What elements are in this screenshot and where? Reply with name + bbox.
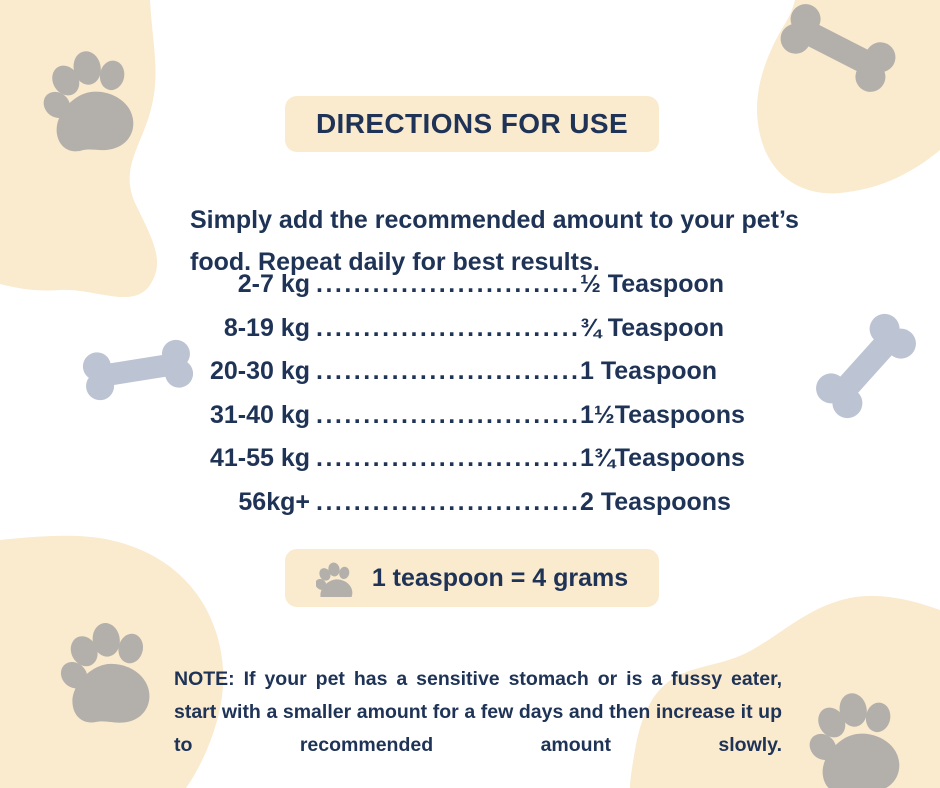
dot-leader: ............................ — [310, 488, 580, 517]
card-content: DIRECTIONS FOR USE Simply add the recomm… — [0, 0, 940, 788]
dosage-amount: 1 Teaspoon — [580, 357, 820, 386]
table-row: 8-19 kg ............................ ¾ T… — [120, 314, 820, 358]
directions-title-banner: DIRECTIONS FOR USE — [285, 96, 659, 152]
dosage-amount: 1¾Teaspoons — [580, 444, 820, 473]
dosage-amount: 1½Teaspoons — [580, 401, 820, 430]
table-row: 31-40 kg ............................ 1½… — [120, 401, 820, 445]
dosage-amount: ¾ Teaspoon — [580, 314, 820, 343]
conversion-text: 1 teaspoon = 4 grams — [372, 566, 628, 591]
table-row: 2-7 kg ............................ ½ Te… — [120, 270, 820, 314]
table-row: 56kg+ ............................ 2 Tea… — [120, 488, 820, 532]
dosage-weight: 41-55 kg — [120, 444, 310, 473]
page-title: DIRECTIONS FOR USE — [316, 110, 628, 138]
dot-leader: ............................ — [310, 401, 580, 430]
dosage-weight: 31-40 kg — [120, 401, 310, 430]
dot-leader: ............................ — [310, 314, 580, 343]
conversion-banner: 1 teaspoon = 4 grams — [285, 549, 659, 607]
dot-leader: ............................ — [310, 270, 580, 299]
dosage-amount: ½ Teaspoon — [580, 270, 820, 299]
dosage-weight: 2-7 kg — [120, 270, 310, 299]
dosage-weight: 20-30 kg — [120, 357, 310, 386]
dosage-weight: 8-19 kg — [120, 314, 310, 343]
note-paragraph: NOTE: If your pet has a sensitive stomac… — [174, 663, 782, 788]
dosage-table: 2-7 kg ............................ ½ Te… — [120, 270, 820, 531]
dosage-amount: 2 Teaspoons — [580, 488, 820, 517]
dosage-weight: 56kg+ — [120, 488, 310, 517]
dot-leader: ............................ — [310, 357, 580, 386]
dot-leader: ............................ — [310, 444, 580, 473]
paw-icon — [316, 559, 354, 597]
table-row: 20-30 kg ............................ 1 … — [120, 357, 820, 401]
directions-for-use-card: DIRECTIONS FOR USE Simply add the recomm… — [0, 0, 940, 788]
table-row: 41-55 kg ............................ 1¾… — [120, 444, 820, 488]
